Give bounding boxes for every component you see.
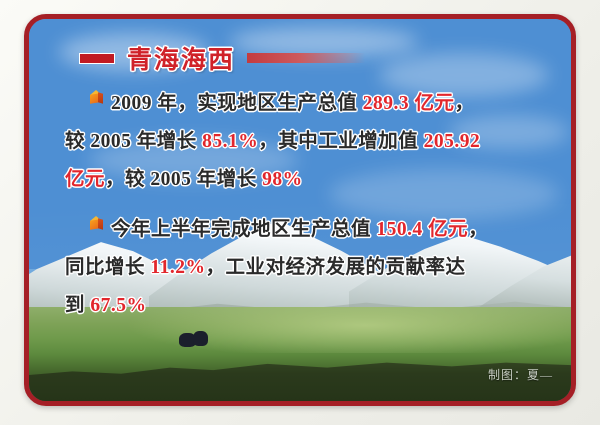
orange-cube-icon: [89, 216, 104, 231]
page-title: 青海海西: [127, 40, 235, 76]
yak-figure: [193, 331, 208, 346]
paragraph-2-line-3: 到 67.5%: [65, 287, 557, 325]
paragraph-2-line-2: 同比增长 11.2%，工业对经济发展的贡献率达: [65, 249, 557, 287]
paragraph-1: 2009 年，实现地区生产总值 289.3 亿元， 较 2005 年增长 85.…: [65, 85, 557, 199]
body-content: 2009 年，实现地区生产总值 289.3 亿元， 较 2005 年增长 85.…: [65, 85, 557, 325]
orange-cube-icon: [89, 90, 104, 105]
infographic-root: 青海海西 2009 年，实现地区生产总值 289.3 亿元， 较 2005 年增…: [0, 0, 600, 425]
paragraph-1-line-3: 亿元，较 2005 年增长 98%: [65, 161, 557, 199]
title-right-bar-icon: [247, 53, 365, 63]
paragraph-1-line-1: 2009 年，实现地区生产总值 289.3 亿元，: [65, 85, 557, 123]
red-frame: 青海海西 2009 年，实现地区生产总值 289.3 亿元， 较 2005 年增…: [24, 14, 576, 406]
credit-text: 制图：夏—: [488, 366, 553, 383]
paragraph-1-line-2: 较 2005 年增长 85.1%，其中工业增加值 205.92: [65, 123, 557, 161]
paragraph-2-line-1: 今年上半年完成地区生产总值 150.4 亿元，: [65, 211, 557, 249]
title-row: 青海海西: [79, 40, 365, 76]
title-left-bar-icon: [79, 53, 115, 64]
paragraph-2: 今年上半年完成地区生产总值 150.4 亿元， 同比增长 11.2%，工业对经济…: [65, 211, 557, 325]
